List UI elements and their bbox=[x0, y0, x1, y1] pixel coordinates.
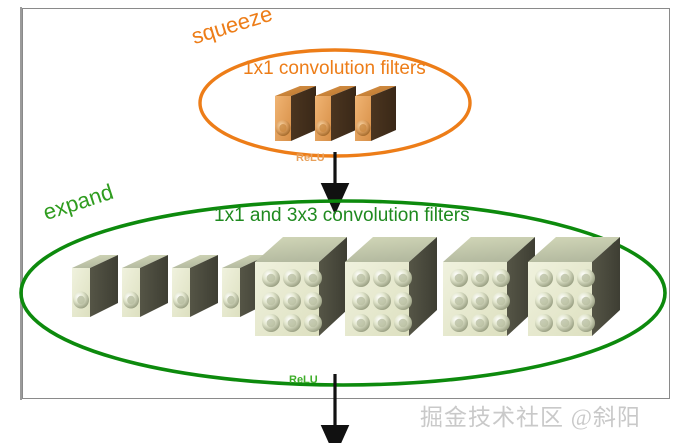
diagram-canvas: squeeze 1x1 convolution filters ReLU exp… bbox=[0, 0, 690, 443]
expand-inner-label: 1x1 and 3x3 convolution filters bbox=[214, 205, 470, 227]
watermark-text: 掘金技术社区 @斜阳 bbox=[420, 398, 641, 432]
squeeze-inner-label: 1x1 convolution filters bbox=[243, 58, 426, 80]
relu-label-squeeze: ReLU bbox=[296, 152, 325, 164]
relu-label-expand: ReLU bbox=[289, 374, 318, 386]
